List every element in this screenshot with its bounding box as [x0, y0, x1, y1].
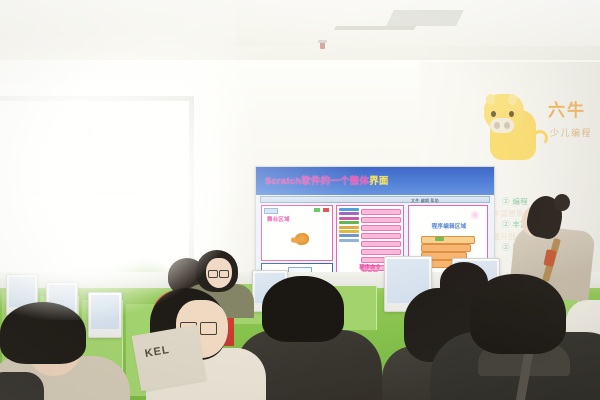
cow-head-shape	[484, 94, 524, 130]
script-block	[421, 244, 471, 252]
paper-label: KEL	[144, 344, 171, 360]
cow-nostril-left-icon	[494, 122, 500, 129]
scratch-menubar: 文件 编辑 帮助	[260, 196, 490, 203]
cow-eye-right-icon	[509, 111, 514, 117]
script-hat-block	[421, 236, 475, 244]
glasses-icon	[208, 270, 218, 278]
category-motion	[339, 208, 359, 211]
cow-mascot-icon	[484, 88, 546, 166]
brand-subtitle: 少儿编程	[550, 126, 592, 139]
brand-name: 六牛	[548, 96, 586, 121]
palette-block	[361, 217, 401, 223]
palette-block	[361, 209, 401, 215]
category-data	[339, 226, 359, 229]
monitor-screen	[91, 295, 119, 329]
scratch-menubar-label: 文件 编辑 帮助	[411, 198, 439, 204]
green-flag-icon	[314, 208, 320, 212]
palette-block	[361, 225, 401, 231]
category-pen	[339, 221, 359, 224]
student-dark-mid-head	[262, 276, 344, 342]
monitor	[88, 292, 122, 338]
classroom-photo: 六牛 少儿编程 ② 丰富想象力 ② 提升创造力 ② 编程 ② 丰富想象力 ② 提…	[0, 0, 600, 400]
sprinkler-icon	[320, 42, 325, 49]
category-control	[339, 234, 359, 237]
scratch-stage-panel: 舞台区域	[261, 205, 333, 261]
window-mullion-horizontal	[30, 192, 140, 196]
glasses-icon	[219, 270, 229, 278]
cow-horn-right-icon	[508, 94, 517, 105]
cow-horn-left-icon	[486, 94, 495, 105]
cow-tail-shape	[532, 130, 548, 146]
script-backdrop-decoration	[469, 210, 481, 220]
glasses-icon	[200, 322, 217, 335]
palette-block	[361, 241, 401, 247]
ceiling-vent-panel	[386, 10, 464, 26]
slide-title: Scratch软件的一个整体界面	[265, 173, 389, 187]
script-panel-label: 程序编辑区域	[409, 222, 489, 230]
category-sound	[339, 217, 359, 220]
cow-nostril-right-icon	[504, 122, 510, 129]
window-mullion-vertical	[88, 128, 92, 200]
student-big-right-head	[470, 274, 566, 354]
palette-label-line1: 程序命令	[359, 265, 381, 271]
category-looks	[339, 212, 359, 215]
slide-title-accent: 界面	[369, 176, 388, 187]
category-sensing	[339, 239, 359, 242]
paper-sheet: KEL	[132, 325, 207, 392]
category-events	[339, 230, 359, 233]
palette-block	[361, 249, 401, 255]
teacher-hair-bun	[554, 194, 570, 211]
palette-block	[361, 233, 401, 239]
slide-title-prefix: Scratch软件的一个整体	[265, 176, 369, 187]
student-far-left-torso	[0, 372, 44, 400]
stop-button-icon	[323, 208, 329, 212]
block-category-list	[339, 208, 359, 243]
scratch-cat-sprite-icon	[294, 232, 309, 245]
student-front-left-head	[0, 302, 86, 364]
ceiling-light-strip	[334, 26, 416, 30]
student-back-center-face	[206, 258, 232, 288]
cow-eye-left-icon	[491, 111, 496, 117]
script-green-flag-icon	[435, 237, 444, 241]
stage-panel-label: 舞台区域	[267, 215, 290, 223]
stage-toolbar-icon	[264, 208, 278, 214]
